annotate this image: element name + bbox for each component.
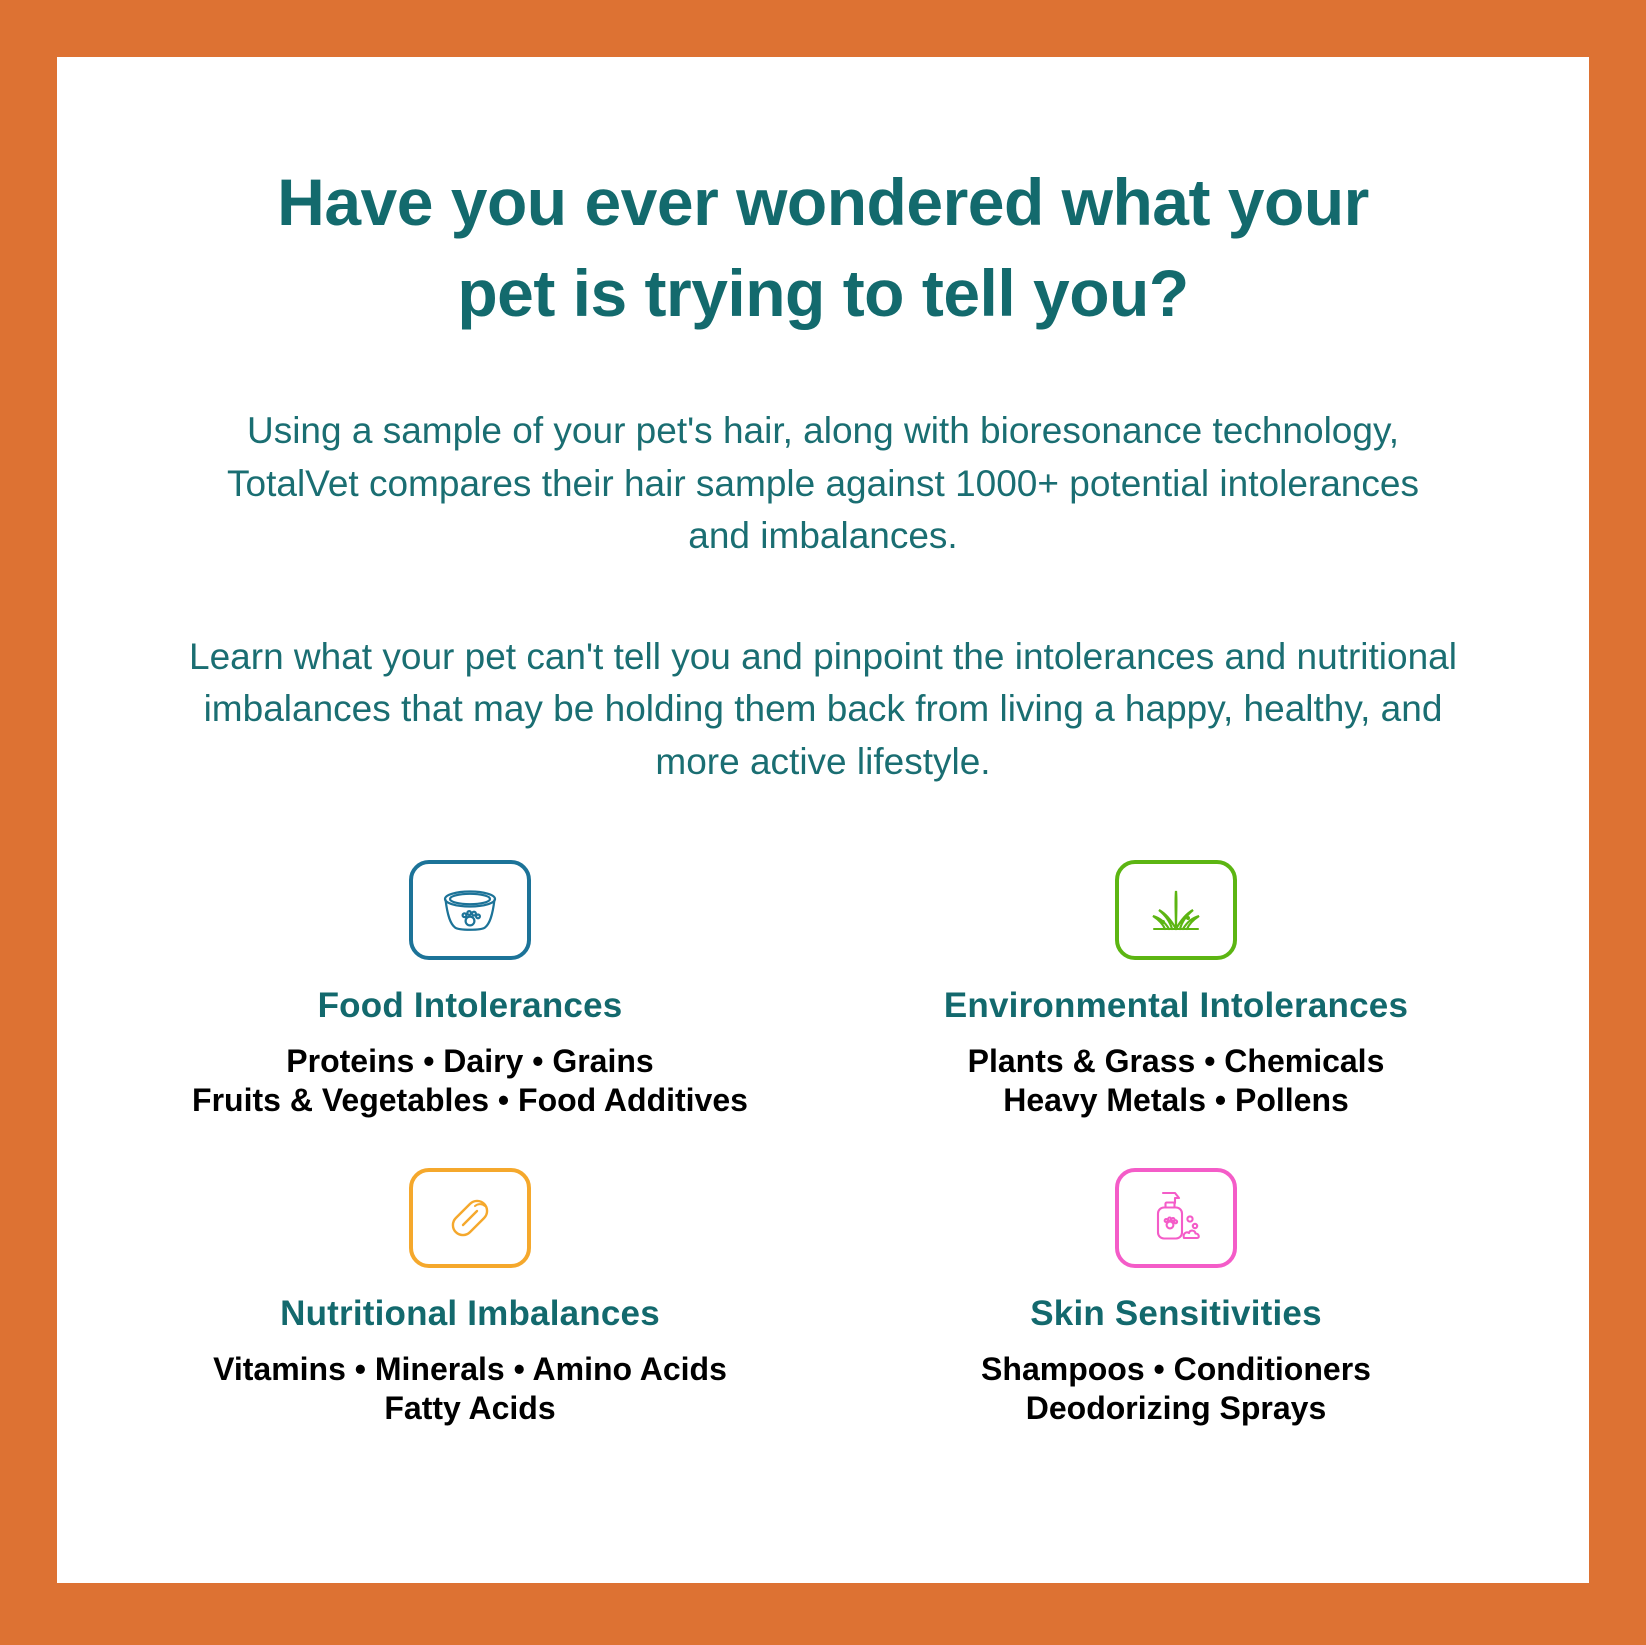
grass-icon-box: [1115, 860, 1237, 960]
category-title: Food Intolerances: [318, 986, 623, 1026]
intro-paragraph-1: Using a sample of your pet's hair, along…: [218, 405, 1428, 563]
content-panel: Have you ever wondered what your pet is …: [57, 57, 1589, 1583]
dog-bowl-icon-box: [409, 860, 531, 960]
category-items: Vitamins • Minerals • Amino Acids Fatty …: [213, 1350, 727, 1428]
category-title: Skin Sensitivities: [1030, 1294, 1322, 1334]
category-items: Proteins • Dairy • Grains Fruits & Veget…: [192, 1042, 748, 1120]
page-title: Have you ever wondered what your pet is …: [263, 157, 1383, 339]
category-environmental-intolerances: Environmental Intolerances Plants & Gras…: [823, 860, 1529, 1120]
capsule-pill-icon: [442, 1190, 498, 1246]
category-skin-sensitivities: Skin Sensitivities Shampoos • Conditione…: [823, 1168, 1529, 1428]
orange-frame: Have you ever wondered what your pet is …: [0, 0, 1646, 1645]
category-title: Nutritional Imbalances: [280, 1294, 660, 1334]
grass-icon: [1145, 884, 1207, 936]
category-title: Environmental Intolerances: [944, 986, 1408, 1026]
category-item-line: Plants & Grass • Chemicals: [968, 1042, 1385, 1081]
intro-paragraph-2: Learn what your pet can't tell you and p…: [173, 631, 1473, 789]
category-item-line: Vitamins • Minerals • Amino Acids: [213, 1350, 727, 1389]
category-grid: Food Intolerances Proteins • Dairy • Gra…: [117, 860, 1529, 1428]
category-item-line: Heavy Metals • Pollens: [968, 1081, 1385, 1120]
category-items: Plants & Grass • Chemicals Heavy Metals …: [968, 1042, 1385, 1120]
category-items: Shampoos • Conditioners Deodorizing Spra…: [981, 1350, 1371, 1428]
category-nutritional-imbalances: Nutritional Imbalances Vitamins • Minera…: [117, 1168, 823, 1428]
shampoo-bottle-icon-box: [1115, 1168, 1237, 1268]
category-item-line: Fruits & Vegetables • Food Additives: [192, 1081, 748, 1120]
category-food-intolerances: Food Intolerances Proteins • Dairy • Gra…: [117, 860, 823, 1120]
shampoo-bottle-icon: [1145, 1187, 1207, 1249]
capsule-pill-icon-box: [409, 1168, 531, 1268]
category-item-line: Fatty Acids: [213, 1389, 727, 1428]
category-item-line: Proteins • Dairy • Grains: [192, 1042, 748, 1081]
category-item-line: Deodorizing Sprays: [981, 1389, 1371, 1428]
dog-bowl-icon: [434, 886, 506, 934]
category-item-line: Shampoos • Conditioners: [981, 1350, 1371, 1389]
